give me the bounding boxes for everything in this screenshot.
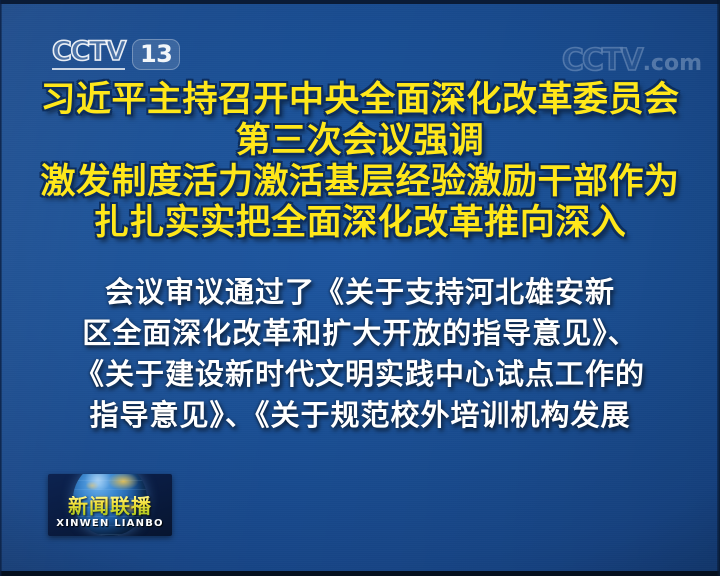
channel-logo: CCTV 13 bbox=[52, 38, 180, 70]
channel-number-badge: 13 bbox=[132, 39, 180, 70]
letterbox-bottom-edge bbox=[0, 571, 720, 576]
headline-line-4: 扎扎实实把全面深化改革推向深入 bbox=[0, 203, 720, 244]
body-text-block: 会议审议通过了《关于支持河北雄安新 区全面深化改革和扩大开放的指导意见》、 《关… bbox=[0, 272, 720, 436]
body-line-2: 区全面深化改革和扩大开放的指导意见》、 bbox=[0, 313, 720, 354]
letterbox-top-edge bbox=[0, 0, 720, 4]
headline-block: 习近平主持召开中央全面深化改革委员会 第三次会议强调 激发制度活力激活基层经验激… bbox=[0, 80, 720, 244]
cctv-wordmark: CCTV bbox=[52, 38, 125, 70]
program-name-chinese: 新闻联播 bbox=[48, 496, 172, 516]
body-line-4: 指导意见》、《关于规范校外培训机构发展 bbox=[0, 395, 720, 436]
headline-line-1: 习近平主持召开中央全面深化改革委员会 bbox=[0, 80, 720, 121]
broadcast-screen: CCTV 13 CCTV .com 习近平主持召开中央全面深化改革委员会 第三次… bbox=[0, 0, 720, 576]
body-line-3: 《关于建设新时代文明实践中心试点工作的 bbox=[0, 354, 720, 395]
program-name-pinyin: XINWEN LIANBO bbox=[48, 519, 172, 529]
body-line-1: 会议审议通过了《关于支持河北雄安新 bbox=[0, 272, 720, 313]
headline-line-2: 第三次会议强调 bbox=[0, 121, 720, 162]
program-logo-badge: 新闻联播 XINWEN LIANBO bbox=[48, 474, 172, 536]
headline-line-3: 激发制度活力激活基层经验激励干部作为 bbox=[0, 162, 720, 203]
